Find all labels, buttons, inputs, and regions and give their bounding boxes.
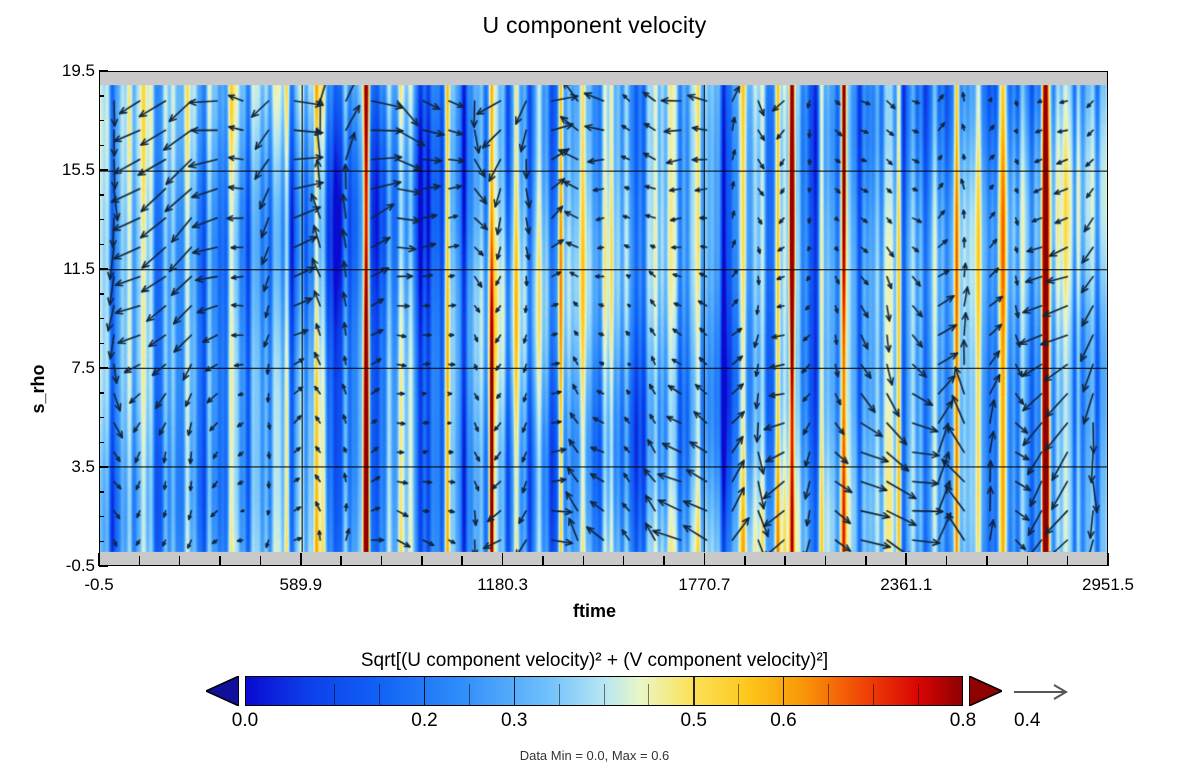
colorbar-tick-label: 0.3 (501, 710, 527, 732)
y-tick-mark-minor (99, 244, 104, 246)
x-tick-mark (1107, 553, 1109, 566)
x-tick-mark-minor (421, 556, 423, 565)
x-tick-mark-minor (1027, 556, 1029, 565)
y-tick-label: -0.5 (66, 556, 95, 576)
colorbar-tick-label: 0.2 (411, 710, 437, 732)
y-tick-mark-minor (99, 194, 104, 196)
y-tick-mark-minor (99, 318, 104, 320)
x-tick-mark (502, 553, 504, 566)
y-tick-label: 3.5 (71, 457, 95, 477)
y-tick-mark-minor (99, 293, 104, 295)
x-tick-mark-minor (825, 556, 827, 565)
x-tick-mark-minor (381, 556, 383, 565)
plot-area (99, 71, 1108, 566)
colorbar-tick-label: 0.8 (950, 710, 976, 732)
colorbar-extend-max-arrow-icon (969, 676, 1002, 706)
vector-key-label: 0.4 (1014, 710, 1040, 732)
y-tick-label: 15.5 (62, 160, 95, 180)
vector-key-arrow-icon (1010, 676, 1090, 706)
x-tick-mark-minor (219, 556, 221, 565)
x-tick-mark-minor (623, 556, 625, 565)
colorbar-tick-mark-minor (648, 684, 649, 706)
y-tick-mark-minor (99, 516, 104, 518)
colorbar-tick-mark (514, 676, 516, 706)
x-tick-mark-minor (179, 556, 181, 565)
x-tick-mark-minor (784, 556, 786, 565)
colorbar-tick-mark (783, 676, 785, 706)
y-tick-mark (99, 169, 108, 171)
colorbar-tick-mark-minor (918, 684, 919, 706)
velocity-magnitude-heatmap (100, 72, 1107, 565)
colorbar-tick-mark-minor (334, 684, 335, 706)
x-axis-title: ftime (0, 601, 1189, 622)
colorbar-tick-label: 0.6 (770, 710, 796, 732)
x-tick-mark-minor (139, 556, 141, 565)
x-tick-mark-minor (663, 556, 665, 565)
x-tick-label: 1770.7 (678, 575, 730, 595)
x-tick-mark-minor (340, 556, 342, 565)
x-tick-mark-minor (1067, 556, 1069, 565)
colorbar-extend-min-arrow-icon (206, 676, 239, 706)
x-tick-mark-minor (986, 556, 988, 565)
y-tick-mark (99, 565, 108, 567)
colorbar-tick-mark-minor (379, 684, 380, 706)
y-tick-mark-minor (99, 343, 104, 345)
x-tick-mark (905, 553, 907, 566)
x-tick-mark (98, 553, 100, 566)
x-tick-label: 1180.3 (477, 575, 528, 595)
y-tick-mark-minor (99, 392, 104, 394)
plot-top-pad (100, 72, 1107, 85)
x-tick-label: 2951.5 (1082, 575, 1134, 595)
y-axis-title: s_rho (28, 364, 49, 413)
colorbar-tick-mark-minor (873, 684, 874, 706)
colorbar-tick-mark-minor (559, 684, 560, 706)
x-tick-mark-minor (865, 556, 867, 565)
x-tick-label: 589.9 (280, 575, 323, 595)
y-tick-mark (99, 268, 108, 270)
x-tick-label: -0.5 (84, 575, 113, 595)
y-tick-mark-minor (99, 120, 104, 122)
x-tick-mark-minor (260, 556, 262, 565)
page-title: U component velocity (0, 12, 1189, 39)
y-tick-mark-minor (99, 219, 104, 221)
colorbar-tick-mark-minor (828, 684, 829, 706)
x-tick-mark-minor (946, 556, 948, 565)
x-tick-mark-minor (461, 556, 463, 565)
y-tick-mark (99, 70, 108, 72)
x-tick-mark (300, 553, 302, 566)
data-range-annotation: Data Min = 0.0, Max = 0.6 (0, 748, 1189, 763)
colorbar-tick-mark-minor (469, 684, 470, 706)
y-tick-mark-minor (99, 491, 104, 493)
y-tick-mark-minor (99, 442, 104, 444)
x-tick-mark-minor (744, 556, 746, 565)
x-tick-mark-minor (583, 556, 585, 565)
x-tick-mark-minor (542, 556, 544, 565)
colorbar-tick-label: 0.0 (232, 710, 258, 732)
colorbar-title: Sqrt[(U component velocity)² + (V compon… (0, 650, 1189, 672)
y-tick-label: 11.5 (63, 259, 95, 279)
y-tick-mark-minor (99, 417, 104, 419)
y-tick-mark-minor (99, 541, 104, 543)
y-tick-mark (99, 466, 108, 468)
colorbar-tick-mark (693, 676, 695, 706)
y-tick-label: 19.5 (62, 61, 95, 81)
x-tick-mark (704, 553, 706, 566)
colorbar-tick-mark-minor (604, 684, 605, 706)
plot-bottom-pad (100, 552, 1107, 565)
figure-root: U component velocity -0.5589.91180.31770… (0, 0, 1189, 777)
y-tick-mark-minor (99, 95, 104, 97)
y-tick-mark (99, 367, 108, 369)
colorbar-tick-label: 0.5 (681, 710, 707, 732)
x-tick-label: 2361.1 (880, 575, 932, 595)
y-tick-mark-minor (99, 145, 104, 147)
colorbar-tick-mark-minor (738, 684, 739, 706)
y-tick-label: 7.5 (71, 358, 95, 378)
colorbar-tick-mark (424, 676, 426, 706)
